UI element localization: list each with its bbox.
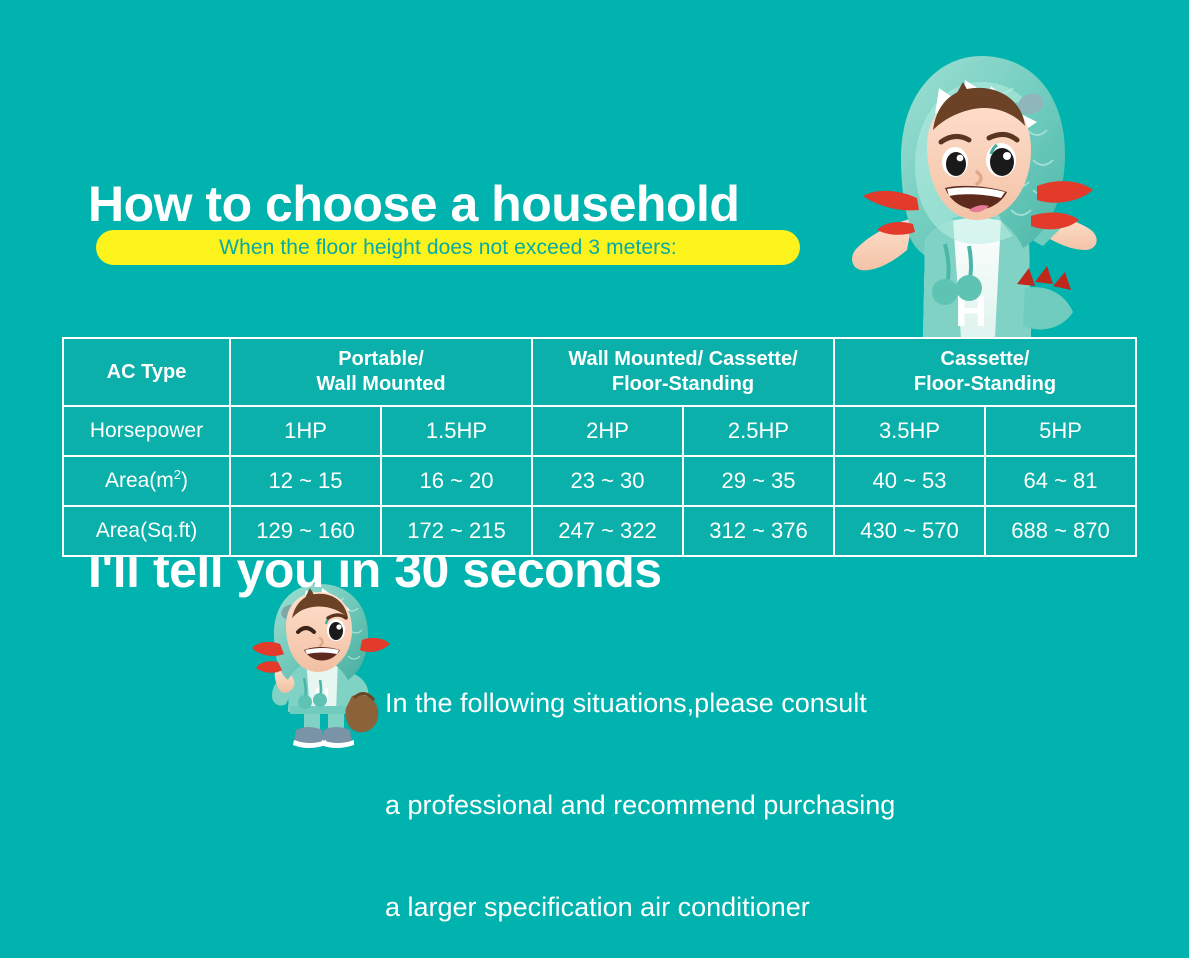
- cell-area-sqft-1: 172 ~ 215: [381, 506, 532, 556]
- cell-area-sqft-4: 430 ~ 570: [834, 506, 985, 556]
- cell-horsepower-4: 3.5HP: [834, 406, 985, 456]
- table-header-ac-type: AC Type: [63, 338, 230, 406]
- cell-area-sqm-2: 23 ~ 30: [532, 456, 683, 506]
- condition-banner: When the floor height does not exceed 3 …: [96, 230, 800, 265]
- dinosaur-tail: [1017, 266, 1073, 330]
- row-label-area-sqft: Area(Sq.ft): [63, 506, 230, 556]
- cell-horsepower-5: 5HP: [985, 406, 1136, 456]
- bag-arm: [346, 674, 379, 732]
- cell-area-sqm-5: 64 ~ 81: [985, 456, 1136, 506]
- row-label-horsepower: Horsepower: [63, 406, 230, 456]
- table-row: Horsepower 1HP 1.5HP 2HP 2.5HP 3.5HP 5HP: [63, 406, 1136, 456]
- advisory-note: In the following situations,please consu…: [385, 618, 895, 958]
- advisory-note-line-1: In the following situations,please consu…: [385, 686, 895, 720]
- cell-area-sqft-2: 247 ~ 322: [532, 506, 683, 556]
- table-header-group-2: Wall Mounted/ Cassette/Floor-Standing: [532, 338, 834, 406]
- cell-area-sqm-3: 29 ~ 35: [683, 456, 834, 506]
- advisory-note-line-3: a larger specification air conditioner: [385, 890, 895, 924]
- ac-spec-table: AC Type Portable/Wall Mounted Wall Mount…: [62, 337, 1137, 557]
- cell-area-sqm-4: 40 ~ 53: [834, 456, 985, 506]
- cell-area-sqm-1: 16 ~ 20: [381, 456, 532, 506]
- table-row: Area(m2) 12 ~ 15 16 ~ 20 23 ~ 30 29 ~ 35…: [63, 456, 1136, 506]
- advisory-note-line-2: a professional and recommend purchasing: [385, 788, 895, 822]
- cell-area-sqft-0: 129 ~ 160: [230, 506, 381, 556]
- cell-horsepower-1: 1.5HP: [381, 406, 532, 456]
- table-row: Area(Sq.ft) 129 ~ 160 172 ~ 215 247 ~ 32…: [63, 506, 1136, 556]
- cell-horsepower-0: 1HP: [230, 406, 381, 456]
- cell-horsepower-2: 2HP: [532, 406, 683, 456]
- cell-area-sqm-0: 12 ~ 15: [230, 456, 381, 506]
- cell-horsepower-3: 2.5HP: [683, 406, 834, 456]
- cell-area-sqft-3: 312 ~ 376: [683, 506, 834, 556]
- row-label-area-sqm: Area(m2): [63, 456, 230, 506]
- page-title-line-1: How to choose a household: [88, 174, 739, 235]
- table-header-group-3: Cassette/Floor-Standing: [834, 338, 1136, 406]
- dinosaur-hoodie-child-cheering-illustration: H: [841, 38, 1111, 338]
- table-header-group-1: Portable/Wall Mounted: [230, 338, 532, 406]
- cell-area-sqft-5: 688 ~ 870: [985, 506, 1136, 556]
- condition-banner-label: When the floor height does not exceed 3 …: [219, 236, 677, 260]
- table-header-row: AC Type Portable/Wall Mounted Wall Mount…: [63, 338, 1136, 406]
